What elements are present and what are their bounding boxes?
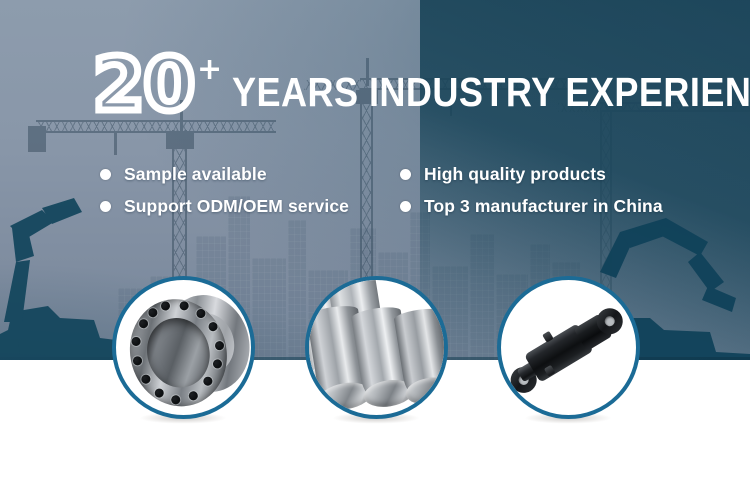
product-showcase [0,0,750,482]
product-circle-hydraulic-cylinder[interactable] [497,276,640,419]
hydraulic-cylinder-image [501,280,636,415]
steel-flange-pipe-image [116,280,251,415]
product-circle-steel-round-bars[interactable] [305,276,448,419]
steel-round-bars-image [309,280,444,415]
promo-banner: 20 + YEARS INDUSTRY EXPERIENCE Sample av… [0,0,750,482]
product-circle-steel-flange-pipe[interactable] [112,276,255,419]
